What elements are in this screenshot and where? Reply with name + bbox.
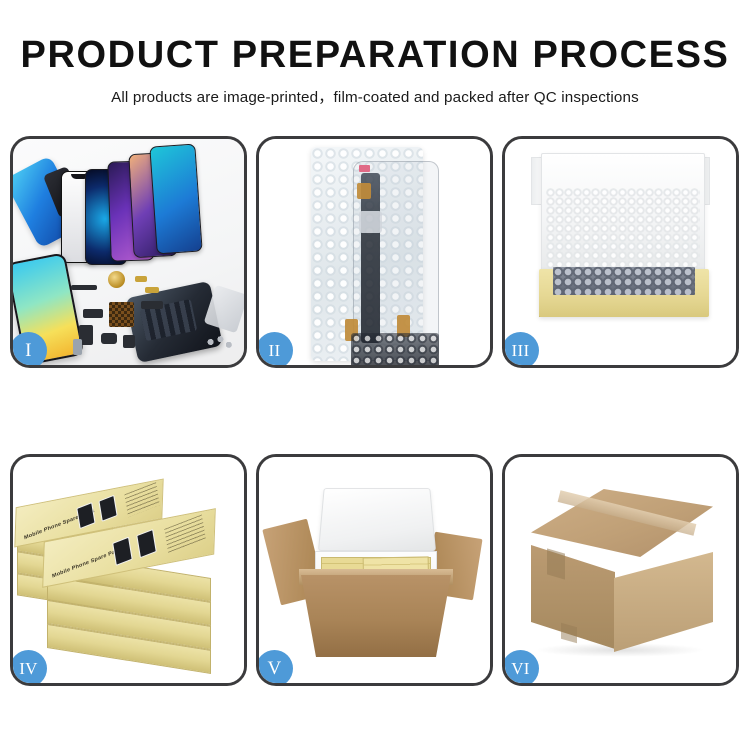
box-print-screen-4 — [136, 529, 157, 558]
foam-lid-open-icon — [318, 488, 436, 551]
box-print-screen-1 — [76, 502, 95, 529]
box-stack-icon: Mobile Phone Spare Parts Mobile Phone Sp… — [13, 457, 244, 683]
foam-sheet-icon — [541, 153, 705, 275]
step-panel-5: V — [256, 454, 493, 686]
part-gold-contact-icon — [145, 287, 159, 293]
carton-right-face-icon — [614, 552, 713, 652]
part-tray-icon — [73, 339, 82, 355]
step-image-stacked-labelled-boxes: Mobile Phone Spare Parts Mobile Phone Sp… — [13, 457, 244, 683]
step-image-foam-lined-inner-box — [505, 139, 736, 365]
bubble-wrap-bag-icon — [311, 147, 423, 361]
step-panel-4: Mobile Phone Spare Parts Mobile Phone Sp… — [10, 454, 247, 686]
phone-screen-teal-icon — [149, 144, 202, 255]
box-print-screen-2 — [98, 495, 117, 522]
page-subtitle: All products are image-printed，film-coat… — [0, 85, 750, 107]
step-image-sealed-shipping-carton — [505, 457, 736, 683]
qc-sticker-icon — [359, 165, 370, 172]
steps-grid: I II — [10, 136, 740, 686]
step-badge-6: VI — [502, 650, 539, 686]
carton-tab-upper-icon — [547, 548, 565, 579]
box-print-screen-3 — [112, 537, 133, 566]
carton-body-icon — [301, 575, 451, 657]
connector-top-icon — [357, 183, 371, 199]
step-badge-5: V — [256, 650, 293, 686]
carton-tab-lower-icon — [561, 623, 577, 644]
part-chip-grid-icon — [109, 302, 134, 327]
part-camera-icon — [123, 335, 135, 348]
box-print-text-lines-2 — [164, 514, 206, 553]
step-badge-1: I — [10, 332, 47, 368]
part-flex-cable-icon — [83, 309, 103, 318]
part-strip-icon — [71, 285, 97, 290]
box-print-text-lines-1 — [124, 482, 159, 517]
step-panel-6: VI — [502, 454, 739, 686]
part-gold-clip-icon — [135, 276, 147, 282]
step-image-carton-packing — [259, 457, 490, 683]
step-badge-4: IV — [10, 650, 47, 686]
step-image-bubble-wrapped-part — [259, 139, 490, 365]
wrapped-bottom-section-icon — [351, 333, 439, 365]
step-badge-3: III — [502, 332, 539, 368]
part-speaker-icon — [101, 333, 117, 344]
step-badge-2: II — [256, 332, 293, 368]
step-panel-2: II — [256, 136, 493, 368]
step-panel-1: I — [10, 136, 247, 368]
step-panel-3: III — [502, 136, 739, 368]
screws-icon — [205, 335, 233, 349]
header: PRODUCT PREPARATION PROCESS All products… — [0, 0, 750, 107]
part-antenna-icon — [141, 301, 163, 309]
step-image-phone-screens-and-parts — [13, 139, 244, 365]
product-preparation-infographic: PRODUCT PREPARATION PROCESS All products… — [0, 0, 750, 750]
part-vibrator-icon — [108, 271, 125, 288]
bubble-wrapped-contents-icon — [553, 267, 695, 295]
page-title: PRODUCT PREPARATION PROCESS — [0, 36, 750, 76]
